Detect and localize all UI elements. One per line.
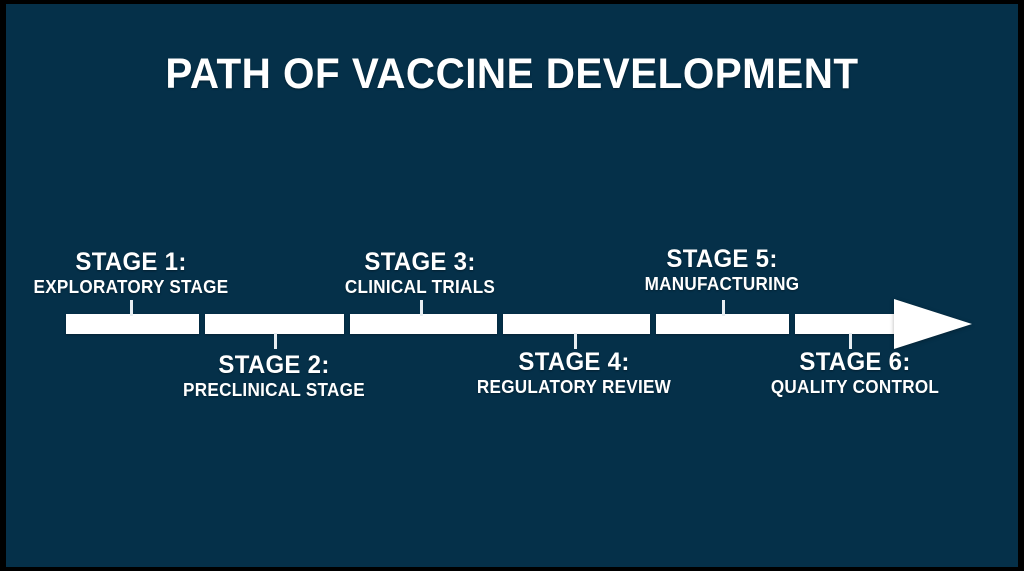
timeline-label-stage-6: STAGE 6: QUALITY CONTROL	[735, 349, 975, 399]
timeline-tick-stage-6	[849, 333, 852, 349]
stage-4-number: STAGE 4:	[459, 349, 689, 376]
timeline-segment-3	[350, 314, 497, 334]
timeline-segment-2	[205, 314, 344, 334]
timeline-label-stage-3: STAGE 3: CLINICAL TRIALS	[300, 249, 540, 299]
timeline-arrow-icon	[894, 299, 972, 349]
timeline-segment-6	[795, 314, 897, 334]
stage-6-number: STAGE 6:	[740, 349, 970, 376]
timeline-segment-1	[66, 314, 199, 334]
timeline-tick-stage-3	[420, 300, 423, 316]
stage-2-name: PRECLINICAL STAGE	[160, 379, 388, 402]
stage-1-name: EXPLORATORY STAGE	[12, 276, 250, 299]
stage-3-number: STAGE 3:	[305, 249, 535, 276]
slide-canvas: PATH OF VACCINE DEVELOPMENT STAGE 1: EXP…	[6, 4, 1018, 567]
timeline-tick-stage-1	[130, 300, 133, 316]
timeline-label-stage-1: STAGE 1: EXPLORATORY STAGE	[6, 249, 256, 299]
stage-3-name: CLINICAL TRIALS	[306, 276, 534, 299]
stage-4-name: REGULATORY REVIEW	[460, 376, 688, 399]
stage-6-name: QUALITY CONTROL	[741, 376, 969, 399]
timeline-tick-stage-2	[274, 333, 277, 349]
stage-5-name: MANUFACTURING	[608, 273, 836, 296]
stage-5-number: STAGE 5:	[607, 246, 837, 273]
timeline-label-stage-5: STAGE 5: MANUFACTURING	[602, 246, 842, 296]
timeline-diagram: STAGE 1: EXPLORATORY STAGE STAGE 3: CLIN…	[6, 4, 1018, 567]
timeline-tick-stage-5	[722, 300, 725, 316]
timeline-segment-4	[503, 314, 650, 334]
stage-1-number: STAGE 1:	[11, 249, 251, 276]
slide-frame: PATH OF VACCINE DEVELOPMENT STAGE 1: EXP…	[0, 0, 1024, 571]
timeline-tick-stage-4	[574, 333, 577, 349]
timeline-segment-5	[656, 314, 789, 334]
timeline-label-stage-2: STAGE 2: PRECLINICAL STAGE	[154, 352, 394, 402]
stage-2-number: STAGE 2:	[159, 352, 389, 379]
timeline-label-stage-4: STAGE 4: REGULATORY REVIEW	[454, 349, 694, 399]
